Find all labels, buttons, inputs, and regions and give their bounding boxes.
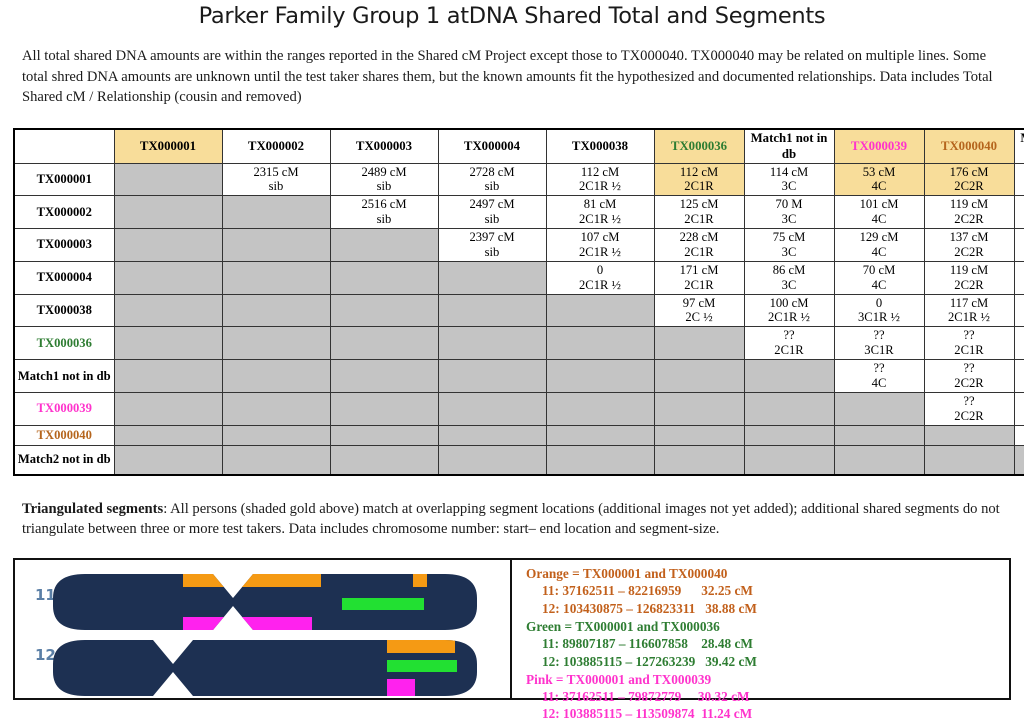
matrix-cell-cm: 176 cM [926,165,1013,180]
matrix-cell [330,261,438,294]
matrix-body: TX0000012315 cMsib2489 cMsib2728 cMsib11… [14,163,1024,475]
segment-legend-group: Pink = TX000001 and TX00003911: 37162511… [526,671,1009,723]
matrix-column-header: TX000040 [924,129,1014,163]
matrix-cell: 2397 cMsib [438,229,546,262]
matrix-cell [546,445,654,475]
matrix-cell [222,196,330,229]
matrix-cell [330,229,438,262]
matrix-cell [114,359,222,392]
matrix-cell-cm: 101 cM [836,197,923,212]
matrix-cell [222,359,330,392]
matrix-row: TX0000032397 cMsib107 cM2C1R ½228 cM2C1R… [14,229,1024,262]
matrix-cell [924,425,1014,445]
matrix-cell: 03C1R [1014,196,1024,229]
matrix-cell-relationship: 3C [746,212,833,227]
matrix-cell [114,196,222,229]
matrix-cell [654,359,744,392]
matrix-column-header: TX000001 [114,129,222,163]
matrix-cell: 100 cM2C1R ½ [744,294,834,327]
matrix-cell-cm: 129 cM [836,230,923,245]
matrix-cell-relationship: 4C [836,245,923,260]
matrix-cell: 86 cM3C [744,261,834,294]
matrix-cell-relationship: 2C1R ½ [548,212,653,227]
matrix-cell [546,327,654,360]
matrix-cell [222,445,330,475]
matrix-row: TX000036??2C1R??3C1R??2C1R118 cM2C2R [14,327,1024,360]
matrix-cell: 2516 cMsib [330,196,438,229]
matrix-cell: 34 cM3C1R [1014,163,1024,196]
segment-legend: Orange = TX000001 and TX00004011: 371625… [512,560,1009,698]
chromosome-diagram: 11 12 [15,560,512,698]
matrix-cell: 117 cM2C1R ½ [924,294,1014,327]
matrix-cell-cm: 2489 cM [332,165,437,180]
matrix-cell-relationship: sib [332,179,437,194]
matrix-cell-relationship: 2C1R ½ [548,278,653,293]
matrix-cell-relationship: 4C [836,212,923,227]
matrix-cell: 70 cM4C [834,261,924,294]
matrix-cell [546,392,654,425]
matrix-row-header: TX000039 [14,392,114,425]
matrix-cell: 75 cM3C [744,229,834,262]
matrix-cell-relationship: 3C1R [1016,245,1024,260]
matrix-cell: 176 cM2C2R [924,163,1014,196]
matrix-cell-cm: ?? [926,361,1013,376]
matrix-cell [1014,445,1024,475]
matrix-cell [924,445,1014,475]
matrix-cell [546,294,654,327]
matrix-cell [330,359,438,392]
matrix-cell-relationship: sib [440,245,545,260]
matrix-cell-cm: 2728 cM [440,165,545,180]
matrix-cell-cm: 0 [1016,428,1024,443]
matrix-cell-relationship: 3C [746,179,833,194]
matrix-cell: 2497 cMsib [438,196,546,229]
matrix-column-header: TX000038 [546,129,654,163]
matrix-cell-cm: 119 cM [926,263,1013,278]
matrix-cell-cm: 2516 cM [332,197,437,212]
matrix-cell: 107 cM2C1R ½ [546,229,654,262]
matrix-cell: 81 cM2C1R ½ [546,196,654,229]
matrix-cell-cm: 107 cM [548,230,653,245]
matrix-cell-cm: 137 cM [926,230,1013,245]
matrix-cell: 53 cM4C [834,163,924,196]
matrix-cell [114,327,222,360]
matrix-cell: 02C1R ½ [546,261,654,294]
matrix-cell-relationship: 2C2R [926,376,1013,391]
matrix-cell-relationship: 3C1R [1016,179,1024,194]
chromosome-browser-panel: 11 12 [13,558,1011,700]
matrix-cell [222,294,330,327]
matrix-row: TX0000400 [14,425,1024,445]
matrix-cell [654,327,744,360]
matrix-cell-relationship: sib [440,212,545,227]
matrix-cell [744,425,834,445]
matrix-row-header: Match2 not in db [14,445,114,475]
matrix-cell [546,425,654,445]
matrix-cell-relationship: 2C ½ [656,310,743,325]
matrix-cell-cm: 117 cM [926,296,1013,311]
segment-legend-line: 12: 103885115 – 127263239 39.42 cM [526,653,1009,670]
matrix-cell-relationship: 3C [746,278,833,293]
matrix-row: TX00003897 cM2C ½100 cM2C1R ½03C1R ½117 … [14,294,1024,327]
matrix-cell [654,392,744,425]
matrix-cell [114,425,222,445]
matrix-cell-cm: 228 cM [656,230,743,245]
matrix-cell: ??2C2R [924,359,1014,392]
matrix-cell-cm: 75 cM [746,230,833,245]
matrix-cell [744,445,834,475]
matrix-cell [114,163,222,196]
matrix-cell: 119 cM2C2R [924,196,1014,229]
matrix-cell-cm: ?? [836,328,923,343]
matrix-cell [330,294,438,327]
segment-legend-group: Orange = TX000001 and TX00004011: 371625… [526,565,1009,617]
matrix-cell: 228 cM2C1R [654,229,744,262]
matrix-column-header: TX000002 [222,129,330,163]
matrix-cell-cm: 86 cM [746,263,833,278]
matrix-cell [330,445,438,475]
matrix-row: Match1 not in db??4C??2C2R40 cM3C1R [14,359,1024,392]
matrix-cell-relationship: 2C1R [656,179,743,194]
matrix-cell-relationship: 2C1R ½ [746,310,833,325]
matrix-cell-cm: 97 cM [656,296,743,311]
matrix-cell-cm: 100 cM [746,296,833,311]
matrix-cell-cm: 34 cM [1016,296,1024,311]
matrix-cell: ??2C1R [744,327,834,360]
matrix-column-header: Match2 not in db [1014,129,1024,163]
matrix-cell-cm: 0 [548,263,653,278]
shared-cm-matrix-container: TX000001TX000002TX000003TX000004TX000038… [0,121,1024,476]
matrix-row-header: TX000002 [14,196,114,229]
matrix-cell-cm: 112 cM [548,165,653,180]
matrix-cell-cm: ?? [836,361,923,376]
matrix-corner-cell [14,129,114,163]
matrix-cell [114,261,222,294]
triangulated-note-body: : All persons (shaded gold above) match … [22,501,1000,537]
matrix-cell-cm: 0 [836,296,923,311]
matrix-cell [438,445,546,475]
matrix-cell [438,327,546,360]
matrix-cell-cm: 40 cM [1016,361,1024,376]
matrix-column-header: TX000036 [654,129,744,163]
matrix-cell-relationship: sib [440,179,545,194]
matrix-cell-relationship: 4C [836,278,923,293]
matrix-row-header: TX000003 [14,229,114,262]
matrix-cell-relationship: 2C1R ½ [548,179,653,194]
chromosome-svg [15,560,512,698]
matrix-row-header: Match1 not in db [14,359,114,392]
matrix-row: TX000039??2C2R0 [14,392,1024,425]
matrix-cell-cm: ?? [746,328,833,343]
matrix-cell [330,392,438,425]
matrix-cell-cm: 70 M [746,197,833,212]
matrix-cell: 0 [1014,425,1024,445]
segment-legend-line: 11: 89807187 – 116607858 28.48 cM [526,635,1009,652]
matrix-cell: 171 cM2C1R [654,261,744,294]
matrix-cell [114,229,222,262]
matrix-cell: 2728 cMsib [438,163,546,196]
matrix-cell-relationship: 3C1R [1016,212,1024,227]
matrix-cell: ??4C [834,359,924,392]
matrix-cell-relationship: 2C2R [926,409,1013,424]
matrix-cell-cm: 171 cM [656,263,743,278]
matrix-cell: 97 cM2C ½ [654,294,744,327]
matrix-cell-cm: 52 cM [1016,230,1024,245]
matrix-cell [114,392,222,425]
matrix-cell-relationship: 2C1R [746,343,833,358]
matrix-cell-cm: 125 cM [656,197,743,212]
matrix-cell: 46 cM3C1R [1014,261,1024,294]
matrix-cell: 129 cM4C [834,229,924,262]
matrix-cell [834,445,924,475]
page-title: Parker Family Group 1 atDNA Shared Total… [0,4,1024,30]
matrix-cell: 137 cM2C2R [924,229,1014,262]
matrix-cell-relationship: 2C2R 1/2 [1016,310,1024,325]
matrix-cell [744,392,834,425]
matrix-cell: 2489 cMsib [330,163,438,196]
matrix-cell-cm: 81 cM [548,197,653,212]
matrix-cell-relationship: 3C [746,245,833,260]
matrix-cell-relationship: 2C1R [656,212,743,227]
segment-legend-line: 12: 103885115 – 113509874 11.24 cM [526,705,1009,722]
matrix-cell-cm: 0 [1016,197,1024,212]
matrix-cell-cm: ?? [926,394,1013,409]
matrix-cell: 114 cM3C [744,163,834,196]
matrix-cell: 125 cM2C1R [654,196,744,229]
matrix-cell: 70 M3C [744,196,834,229]
matrix-row-header: TX000040 [14,425,114,445]
matrix-cell [438,261,546,294]
matrix-cell-relationship: 2C2R [1016,343,1024,358]
matrix-cell-cm: 114 cM [746,165,833,180]
matrix-row: Match2 not in db [14,445,1024,475]
matrix-cell [438,294,546,327]
matrix-cell-relationship: 2C1R [656,245,743,260]
matrix-cell [222,229,330,262]
matrix-column-header: TX000003 [330,129,438,163]
matrix-cell-cm: 53 cM [836,165,923,180]
matrix-cell-cm: 112 cM [656,165,743,180]
matrix-cell-cm: 118 cM [1016,328,1024,343]
matrix-cell-cm: 46 cM [1016,263,1024,278]
segment-legend-line: 11: 37162511 – 79872779 30.32 cM [526,688,1009,705]
matrix-cell-cm: 70 cM [836,263,923,278]
matrix-header: TX000001TX000002TX000003TX000004TX000038… [14,129,1024,163]
matrix-cell-relationship: 2C2R [926,278,1013,293]
matrix-cell-relationship: 4C [836,179,923,194]
matrix-cell-relationship: 2C1R ½ [548,245,653,260]
matrix-cell: 52 cM3C1R [1014,229,1024,262]
matrix-cell-cm: 2397 cM [440,230,545,245]
matrix-cell: 119 cM2C2R [924,261,1014,294]
matrix-cell-cm: 2497 cM [440,197,545,212]
matrix-cell-relationship: 2C1R [926,343,1013,358]
matrix-cell: 101 cM4C [834,196,924,229]
matrix-cell: ??3C1R [834,327,924,360]
matrix-row: TX00000402C1R ½171 cM2C1R86 cM3C70 cM4C1… [14,261,1024,294]
matrix-cell [114,445,222,475]
matrix-column-header: Match1 not in db [744,129,834,163]
matrix-cell-relationship: 4C [836,376,923,391]
matrix-cell-cm: 34 cM [1016,165,1024,180]
matrix-cell [222,392,330,425]
matrix-cell [114,294,222,327]
matrix-cell [654,425,744,445]
segment-legend-heading: Green = TX000001 and TX000036 [526,618,1009,635]
matrix-cell-relationship: sib [332,212,437,227]
triangulated-note-lead: Triangulated segments [22,501,163,517]
matrix-row-header: TX000001 [14,163,114,196]
matrix-cell: ??2C2R [924,392,1014,425]
matrix-cell [330,327,438,360]
matrix-cell [222,327,330,360]
segment-legend-group: Green = TX000001 and TX00003611: 8980718… [526,618,1009,670]
matrix-cell [438,359,546,392]
matrix-cell: 112 cM2C1R ½ [546,163,654,196]
segment-legend-line: 12: 103430875 – 126823311 38.88 cM [526,600,1009,617]
matrix-cell [744,359,834,392]
matrix-cell [834,392,924,425]
matrix-cell-cm: 119 cM [926,197,1013,212]
matrix-cell [438,425,546,445]
matrix-cell [654,445,744,475]
segment-legend-line: 11: 37162511 – 82216959 32.25 cM [526,582,1009,599]
matrix-row-header: TX000038 [14,294,114,327]
matrix-cell: 40 cM3C1R [1014,359,1024,392]
matrix-cell-relationship: 2C2R [926,212,1013,227]
matrix-cell [438,392,546,425]
matrix-cell [834,425,924,445]
matrix-row-header: TX000036 [14,327,114,360]
segment-legend-heading: Pink = TX000001 and TX000039 [526,671,1009,688]
matrix-cell: 118 cM2C2R [1014,327,1024,360]
matrix-cell [330,425,438,445]
matrix-cell-relationship: 3C1R [836,343,923,358]
intro-paragraph: All total shared DNA amounts are within … [0,44,1024,106]
matrix-header-row: TX000001TX000002TX000003TX000004TX000038… [14,129,1024,163]
matrix-column-header: TX000039 [834,129,924,163]
matrix-row: TX0000022516 cMsib2497 cMsib81 cM2C1R ½1… [14,196,1024,229]
matrix-cell: 03C1R ½ [834,294,924,327]
matrix-cell-cm: ?? [926,328,1013,343]
matrix-cell: 2315 cMsib [222,163,330,196]
matrix-cell-relationship: 2C2R [926,245,1013,260]
matrix-cell-relationship: 2C1R [656,278,743,293]
matrix-cell: 34 cM2C2R 1/2 [1014,294,1024,327]
matrix-column-header: TX000004 [438,129,546,163]
matrix-cell-relationship: 3C1R [1016,376,1024,391]
shared-cm-matrix: TX000001TX000002TX000003TX000004TX000038… [13,128,1024,476]
matrix-cell: ??2C1R [924,327,1014,360]
matrix-cell-relationship: 2C1R ½ [926,310,1013,325]
matrix-cell-cm: 0 [1016,401,1024,416]
matrix-cell-relationship: 2C2R [926,179,1013,194]
matrix-cell-relationship: 3C1R ½ [836,310,923,325]
matrix-row: TX0000012315 cMsib2489 cMsib2728 cMsib11… [14,163,1024,196]
triangulated-note: Triangulated segments: All persons (shad… [0,491,1024,544]
matrix-cell-relationship: 3C1R [1016,278,1024,293]
matrix-cell [546,359,654,392]
matrix-cell: 112 cM2C1R [654,163,744,196]
matrix-cell [222,425,330,445]
matrix-cell-relationship: sib [224,179,329,194]
matrix-cell [222,261,330,294]
matrix-cell-cm: 2315 cM [224,165,329,180]
segment-legend-heading: Orange = TX000001 and TX000040 [526,565,1009,582]
matrix-row-header: TX000004 [14,261,114,294]
matrix-cell: 0 [1014,392,1024,425]
